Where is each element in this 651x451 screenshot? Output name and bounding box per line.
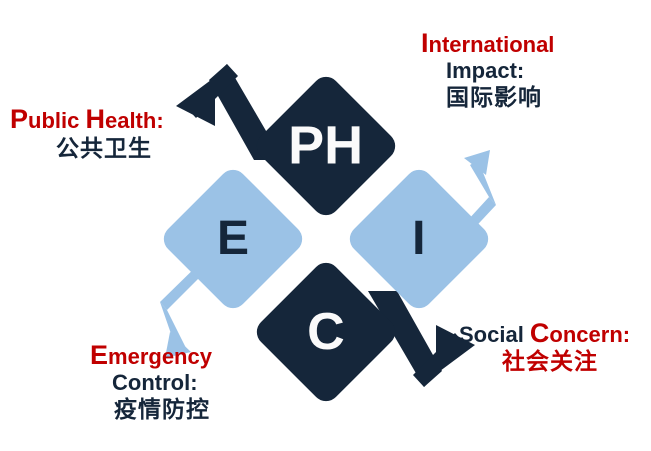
diamond-label-i: I <box>412 215 425 263</box>
int-chinese: 国际影响 <box>446 85 554 111</box>
em-cap-e: E <box>90 340 108 370</box>
ph-rest-ublic: ublic <box>28 108 85 133</box>
label-social-concern: Social Concern: 社会关注 <box>459 318 630 375</box>
int-rest: nternational <box>429 32 555 57</box>
ph-chinese: 公共卫生 <box>56 136 164 162</box>
diamond-label-ph: PH <box>288 119 363 173</box>
soc-cap-c: C <box>530 318 550 348</box>
ph-cap-p: P <box>10 104 28 134</box>
soc-chinese: 社会关注 <box>502 349 630 375</box>
int-line2: Impact: <box>446 59 554 84</box>
em-rest: mergency <box>108 344 212 369</box>
soc-rest: oncern: <box>549 322 630 347</box>
int-cap-i: I <box>421 28 429 58</box>
ph-cap-h: H <box>85 104 105 134</box>
label-public-health: Public Health: 公共卫生 <box>10 104 164 162</box>
label-international-impact: International Impact: 国际影响 <box>421 28 554 111</box>
diamond-label-c: C <box>307 306 345 358</box>
em-chinese: 疫情防控 <box>114 397 212 423</box>
ph-rest-ealth: ealth: <box>105 108 164 133</box>
label-emergency-control: Emergency Control: 疫情防控 <box>90 340 212 423</box>
em-line2: Control: <box>112 371 212 396</box>
diamond-label-e: E <box>217 215 249 263</box>
soc-pre: Social <box>459 322 530 347</box>
diagram-canvas: PH E I C Public Health: 公共卫生 Internation… <box>0 0 651 451</box>
